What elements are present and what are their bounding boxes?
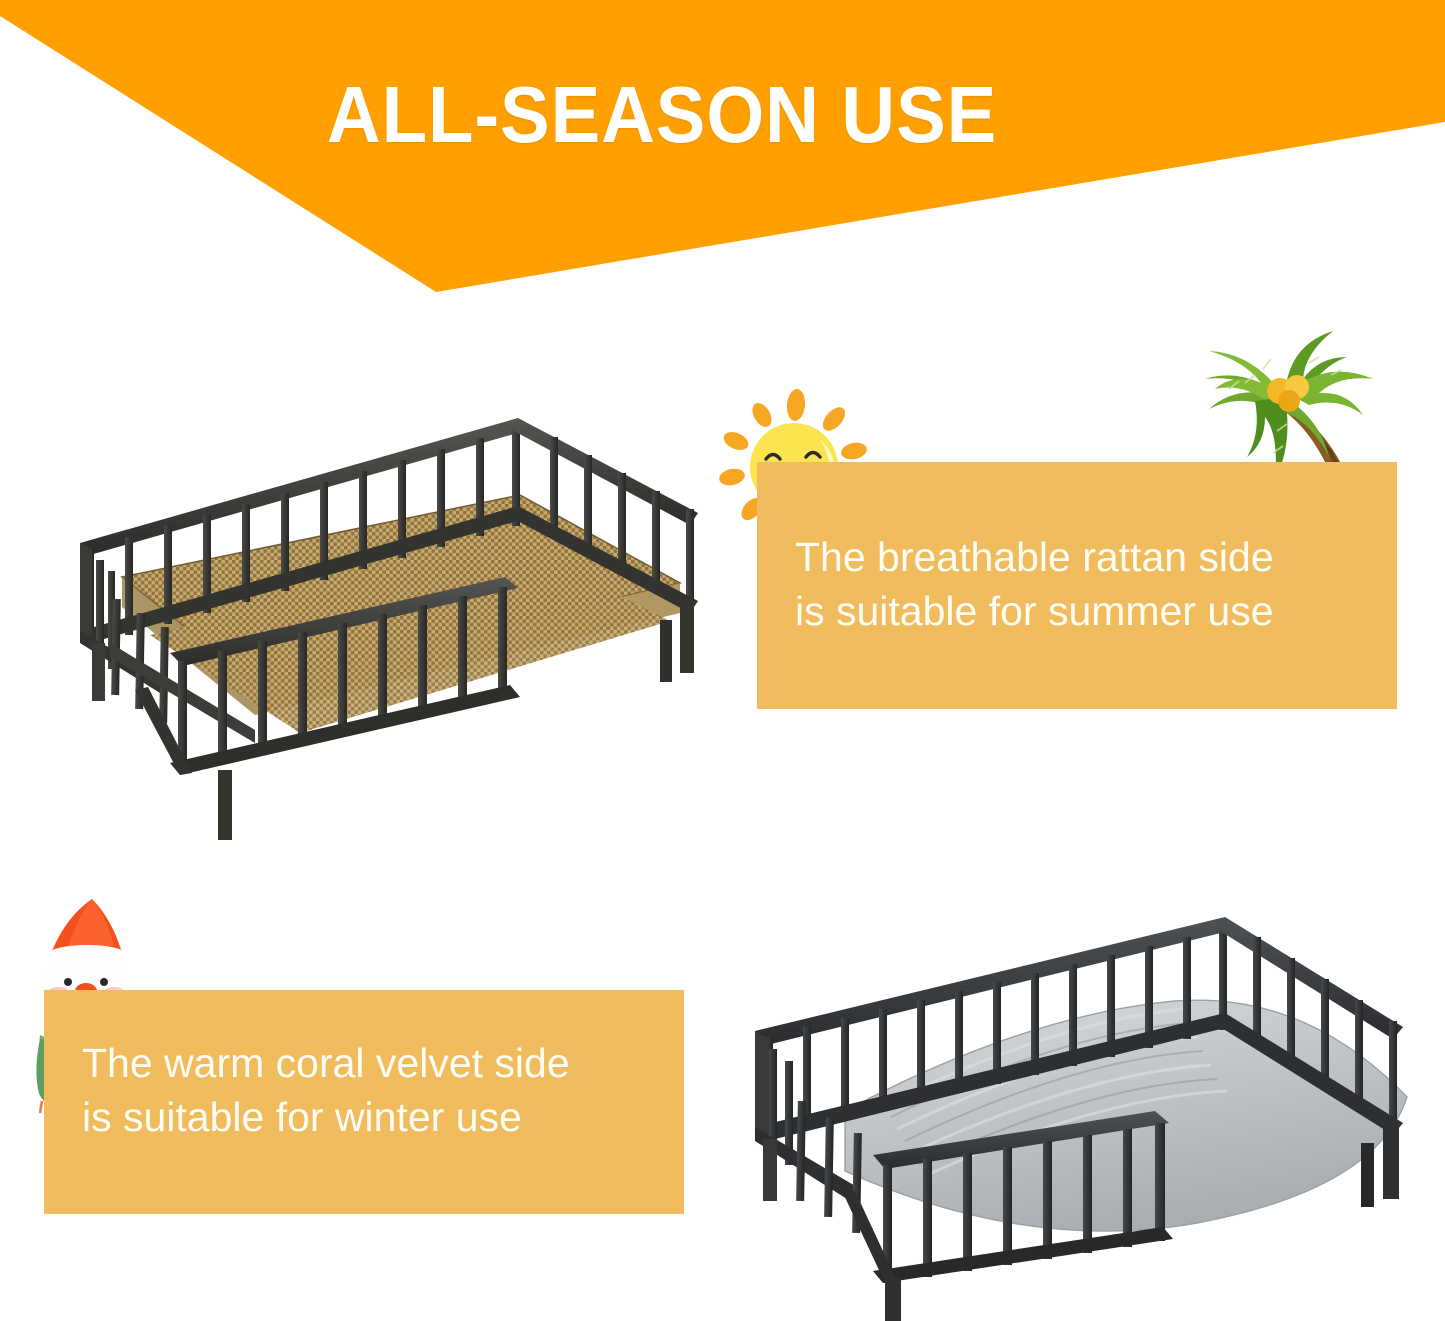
page-title: ALL-SEASON USE — [51, 70, 1395, 160]
product-image-rattan-bed — [50, 385, 720, 825]
winter-callout-line-2: is suitable for winter use — [82, 1090, 570, 1144]
summer-callout-line-1: The breathable rattan side — [795, 530, 1274, 584]
summer-callout-box: The breathable rattan side is suitable f… — [757, 462, 1397, 709]
product-image-velvet-bed — [735, 915, 1435, 1315]
winter-callout-box: The warm coral velvet side is suitable f… — [44, 990, 684, 1214]
summer-callout-line-2: is suitable for summer use — [795, 584, 1274, 638]
header-banner: ALL-SEASON USE — [0, 0, 1445, 300]
winter-callout-line-1: The warm coral velvet side — [82, 1036, 570, 1090]
